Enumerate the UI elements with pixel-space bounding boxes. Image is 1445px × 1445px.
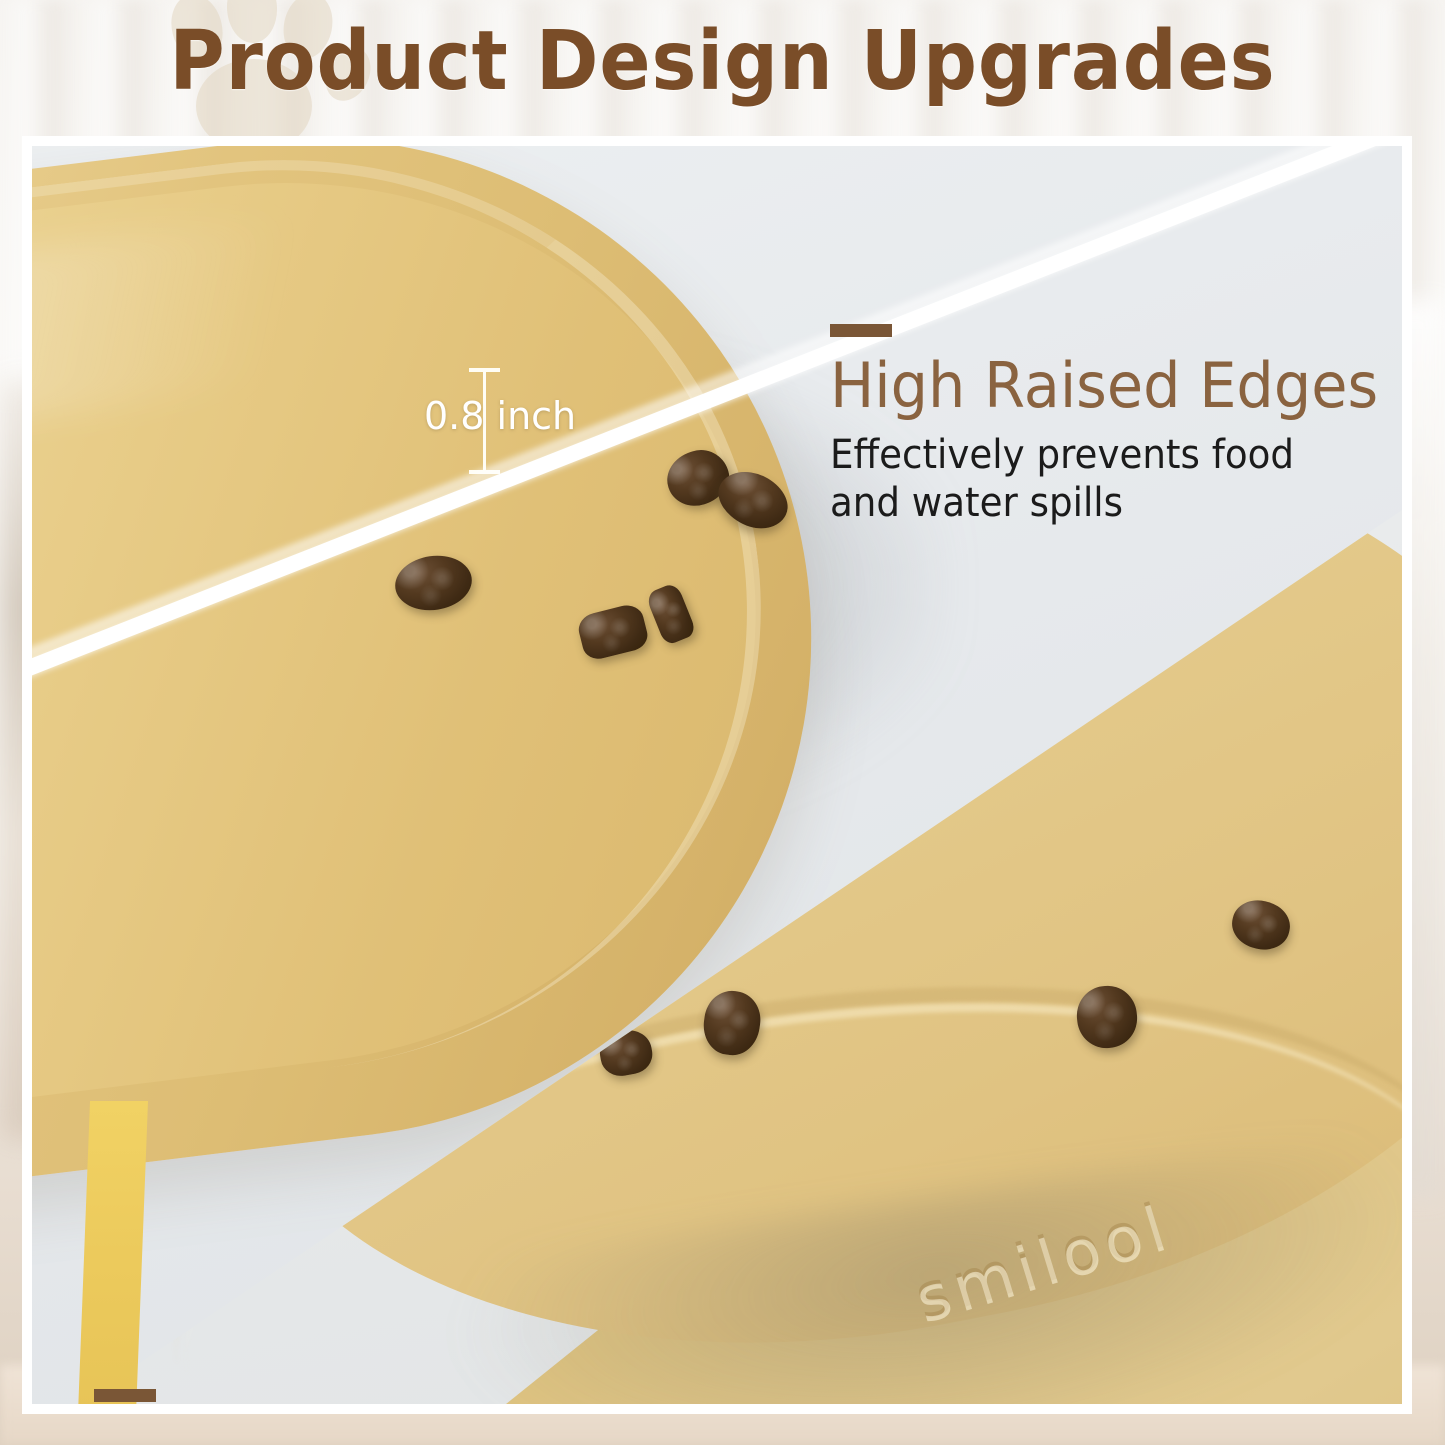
product-photo-panel: 0.8 inch smilool bbox=[22, 136, 1412, 1414]
dimension-label: 0.8 inch bbox=[424, 394, 576, 438]
accent-bar-yellow bbox=[78, 1101, 148, 1404]
callout-heading: High Raised Edges bbox=[830, 351, 1378, 421]
page-title: Product Design Upgrades bbox=[58, 16, 1387, 108]
callout-high-raised-edges: High Raised Edges Effectively prevents f… bbox=[830, 324, 1402, 527]
callout-keeping-floor-clean: Keeping the floor clean Minimizes time s… bbox=[94, 1389, 1064, 1404]
product-infographic: Product Design Upgrades 0.8 inch bbox=[0, 0, 1445, 1445]
callout-subtitle: Effectively prevents food and water spil… bbox=[830, 431, 1367, 527]
dash-accent-icon bbox=[830, 324, 892, 337]
dash-accent-icon bbox=[94, 1389, 156, 1402]
